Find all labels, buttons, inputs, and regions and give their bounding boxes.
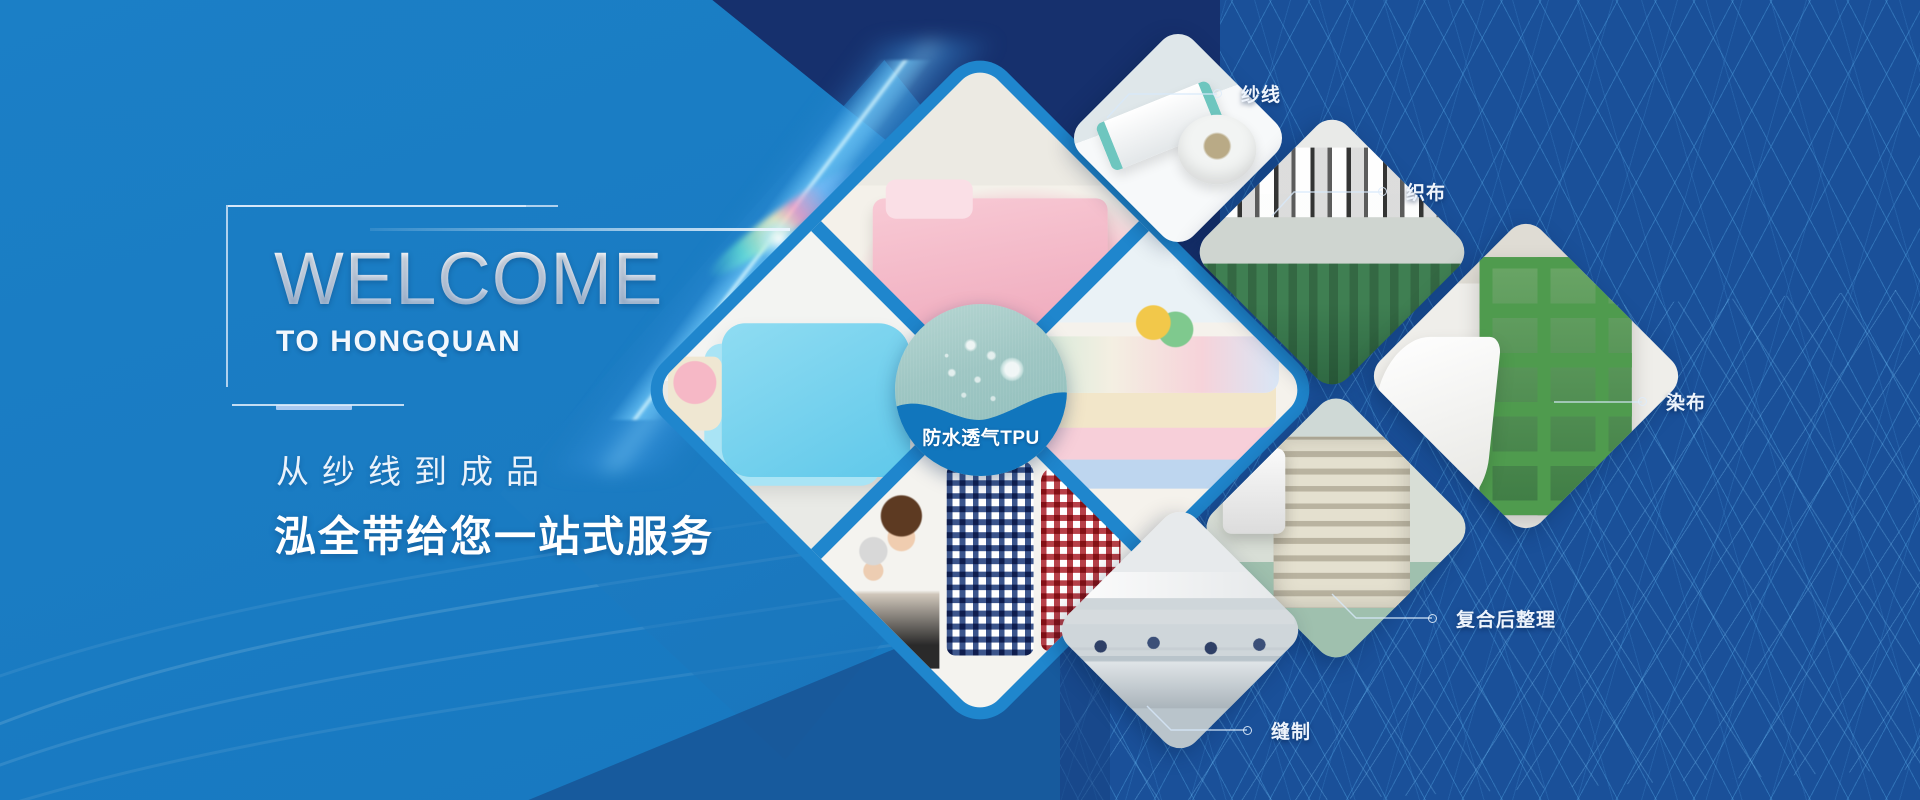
leader-dot <box>1213 89 1222 98</box>
callout-label-dye: 染布 <box>1666 388 1706 415</box>
callout-label-yarn: 纱线 <box>1241 80 1281 107</box>
leader-line <box>1330 592 1440 632</box>
page-subtitle: TO HONGQUAN <box>276 325 521 359</box>
leader-line <box>1145 704 1255 744</box>
leader-dot <box>1638 397 1647 406</box>
tpu-badge[interactable]: 防水透气TPU <box>895 304 1067 476</box>
callout-label-weave: 织布 <box>1406 178 1446 205</box>
callout-label-laminate: 复合后整理 <box>1456 605 1556 632</box>
leader-dot <box>1243 726 1252 735</box>
leader-line <box>1270 178 1390 218</box>
tpu-badge-label: 防水透气TPU <box>895 423 1067 450</box>
bottom-rule <box>232 404 404 406</box>
leader-line <box>1552 394 1648 410</box>
leader-dot <box>1428 614 1437 623</box>
slogan-chinese: 泓全带给您一站式服务 <box>274 503 714 564</box>
leader-line <box>1105 80 1225 120</box>
leader-dot <box>1378 187 1387 196</box>
hero-banner: WELCOME TO HONGQUAN 从纱线到成品 泓全带给您一站式服务 <box>0 0 1920 800</box>
page-title: WELCOME <box>274 243 663 314</box>
callout-label-sew: 缝制 <box>1271 717 1311 744</box>
tagline-chinese: 从纱线到成品 <box>276 445 552 493</box>
